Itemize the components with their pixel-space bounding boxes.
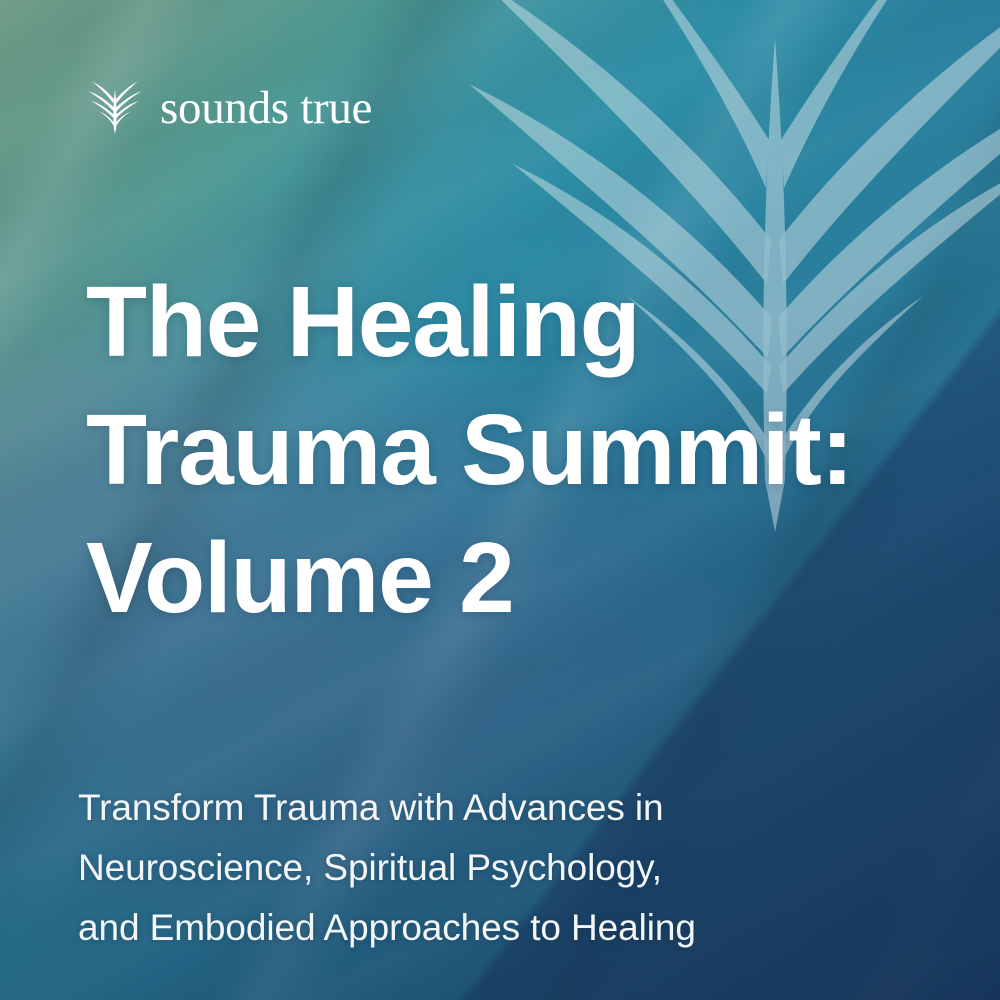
subtitle-line-2: Neuroscience, Spiritual Psychology, — [78, 838, 938, 898]
brand-wordmark: sounds true — [160, 85, 372, 132]
title-line-1: The Healing — [86, 258, 886, 386]
album-cover: sounds true The Healing Trauma Summit: V… — [0, 0, 1000, 1000]
sounds-true-wings-icon — [84, 76, 146, 138]
title-line-2: Trauma Summit: — [86, 386, 886, 514]
brand-logo[interactable]: sounds true — [84, 76, 372, 138]
page-subtitle: Transform Trauma with Advances in Neuros… — [78, 778, 938, 958]
page-title: The Healing Trauma Summit: Volume 2 — [86, 258, 886, 642]
subtitle-line-3: and Embodied Approaches to Healing — [78, 898, 938, 958]
title-line-3: Volume 2 — [86, 514, 886, 642]
subtitle-line-1: Transform Trauma with Advances in — [78, 778, 938, 838]
